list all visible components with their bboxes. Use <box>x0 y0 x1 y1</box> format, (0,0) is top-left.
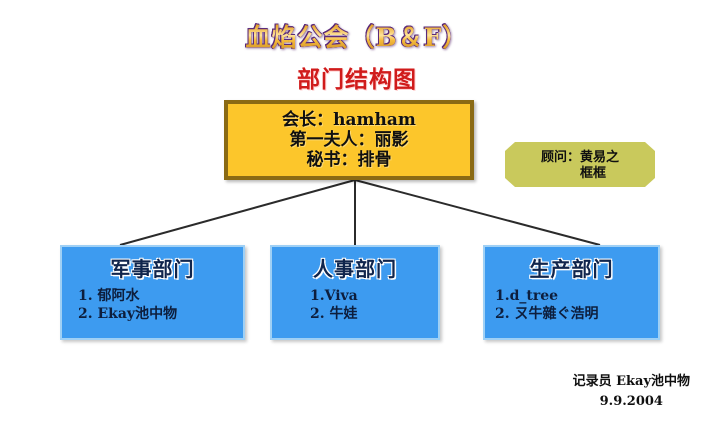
advisor-name-secondary: 框框 <box>554 165 606 181</box>
advisor-name-primary: 顾问：黄易之 <box>541 149 619 165</box>
connector-line-right <box>355 180 600 245</box>
leader-president: 会长：hamham <box>282 110 416 130</box>
leader-secretary: 秘书：排骨 <box>307 150 392 170</box>
member-item: 1.Viva <box>310 288 438 306</box>
footer-recorder: 记录员 Ekay池中物 <box>573 374 690 389</box>
member-item: 1. 郁阿水 <box>78 288 243 306</box>
footer: 记录员 Ekay池中物 9.9.2004 <box>573 372 690 412</box>
member-item: 2. ㄡ牛雜ぐ浩明 <box>495 306 658 324</box>
department-box-military[interactable]: 军事部门 1. 郁阿水 2. Ekay池中物 <box>60 245 245 340</box>
connector-line-left <box>120 180 355 245</box>
leader-box[interactable]: 会长：hamham 第一夫人：丽影 秘书：排骨 <box>224 100 474 180</box>
department-members: 1.d_tree 2. ㄡ牛雜ぐ浩明 <box>485 288 658 324</box>
advisor-box[interactable]: 顾问：黄易之 框框 <box>505 142 655 187</box>
department-title: 人事部门 <box>272 253 438 282</box>
department-title: 军事部门 <box>62 253 243 282</box>
department-members: 1.Viva 2. 牛娃 <box>272 288 438 324</box>
department-box-production[interactable]: 生产部门 1.d_tree 2. ㄡ牛雜ぐ浩明 <box>483 245 660 340</box>
member-item: 2. 牛娃 <box>310 306 438 324</box>
department-title: 生产部门 <box>485 253 658 282</box>
department-members: 1. 郁阿水 2. Ekay池中物 <box>62 288 243 324</box>
footer-date: 9.9.2004 <box>573 392 690 412</box>
leader-first-lady: 第一夫人：丽影 <box>290 130 409 150</box>
org-chart-canvas: 血焰公会（B＆F） 部门结构图 会长：hamham 第一夫人：丽影 秘书：排骨 … <box>0 0 714 424</box>
member-item: 2. Ekay池中物 <box>78 306 243 324</box>
page-title: 血焰公会（B＆F） <box>0 18 714 54</box>
department-box-hr[interactable]: 人事部门 1.Viva 2. 牛娃 <box>270 245 440 340</box>
page-subtitle: 部门结构图 <box>0 60 714 94</box>
member-item: 1.d_tree <box>495 288 658 306</box>
